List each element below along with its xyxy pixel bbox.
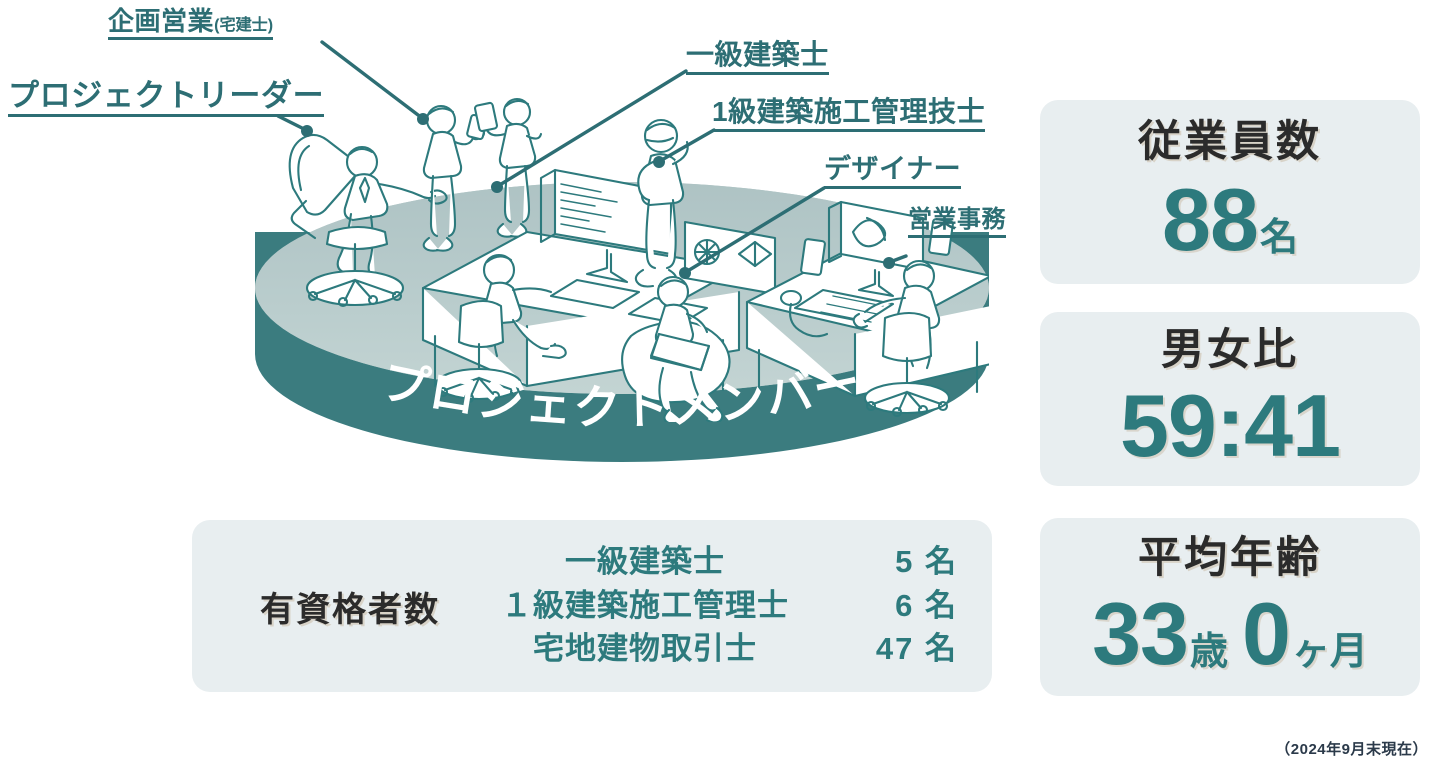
leader-line-construction-manager (660, 130, 714, 161)
leader-line-project-leader (278, 116, 306, 130)
stat-value-employee-count: 88 名 (1162, 176, 1298, 264)
project-member-cylinder: プロジェクトメンバー (255, 182, 989, 482)
cylinder-top-ellipse (255, 182, 989, 394)
leader-dot-project-leader (301, 125, 313, 137)
stat-card-employee-count: 従業員数 88 名 (1040, 100, 1420, 284)
qualification-count: 6 名 (828, 588, 958, 625)
qualification-row: １級建築施工管理士 6 名 (462, 588, 958, 625)
stat-card-gender-ratio: 男女比 59:41 (1040, 312, 1420, 486)
leader-line-planning-sales (322, 42, 422, 118)
qualification-heading: 有資格者数 (192, 582, 462, 631)
qualification-name: 一級建築士 (462, 544, 828, 581)
role-label-planning-sales-sub: (宅建士) (214, 16, 273, 34)
qualification-row: 宅地建物取引士 47 名 (462, 631, 958, 668)
stat-number-average-age-months: 0 (1242, 590, 1290, 678)
role-label-sales-admin-text: 営業事務 (908, 206, 1006, 233)
cylinder-top-surface (255, 182, 989, 394)
stat-card-average-age: 平均年齢 33 歳 0 ヶ月 (1040, 518, 1420, 696)
role-label-sales-admin: 営業事務 (908, 208, 1006, 238)
stat-value-average-age: 33 歳 0 ヶ月 (1092, 590, 1368, 678)
stat-unit-average-age-years: 歳 (1190, 633, 1228, 671)
qualification-count: 5 名 (828, 544, 958, 581)
role-label-construction-manager-text: 1級建築施工管理技士 (712, 96, 985, 127)
qualification-name: １級建築施工管理士 (462, 588, 828, 625)
infographic-root: プロジェクトメンバー プロジェクトリーダー 企画営業(宅建士) 一級建築士 (0, 0, 1440, 773)
qualification-row: 一級建築士 5 名 (462, 544, 958, 581)
role-label-construction-manager: 1級建築施工管理技士 (712, 98, 985, 132)
stat-unit-employee-count: 名 (1260, 219, 1298, 257)
stat-title-employee-count: 従業員数 (1138, 121, 1322, 164)
role-label-project-leader: プロジェクトリーダー (8, 80, 324, 117)
leader-dot-construction-manager (653, 156, 665, 168)
role-label-first-class-architect-text: 一級建築士 (686, 39, 829, 70)
stat-unit-average-age-months: ヶ月 (1292, 633, 1368, 671)
stat-value-gender-ratio: 59:41 (1120, 382, 1340, 470)
role-label-designer-text: デザイナー (824, 154, 961, 184)
stat-number-employee-count: 88 (1162, 176, 1258, 264)
leader-line-first-class-architect (498, 71, 686, 186)
stat-title-gender-ratio: 男女比 (1161, 329, 1299, 372)
qualification-count: 47 名 (828, 631, 958, 668)
leader-dot-planning-sales (417, 113, 429, 125)
stat-title-average-age: 平均年齢 (1138, 537, 1322, 580)
role-label-planning-sales: 企画営業(宅建士) (108, 8, 273, 40)
qualification-card: 有資格者数 一級建築士 5 名 １級建築施工管理士 6 名 宅地建物取引士 47… (192, 520, 992, 692)
role-label-designer: デザイナー (824, 156, 961, 189)
stat-number-gender-ratio: 59:41 (1120, 382, 1340, 470)
stat-number-average-age-years: 33 (1092, 590, 1188, 678)
footnote-date: （2024年9月末現在） (1275, 738, 1428, 759)
qualification-rows: 一級建築士 5 名 １級建築施工管理士 6 名 宅地建物取引士 47 名 (462, 544, 992, 668)
role-label-first-class-architect: 一級建築士 (686, 41, 829, 75)
role-label-project-leader-text: プロジェクトリーダー (8, 78, 324, 113)
role-label-planning-sales-text: 企画営業 (108, 6, 214, 36)
qualification-name: 宅地建物取引士 (462, 631, 828, 668)
